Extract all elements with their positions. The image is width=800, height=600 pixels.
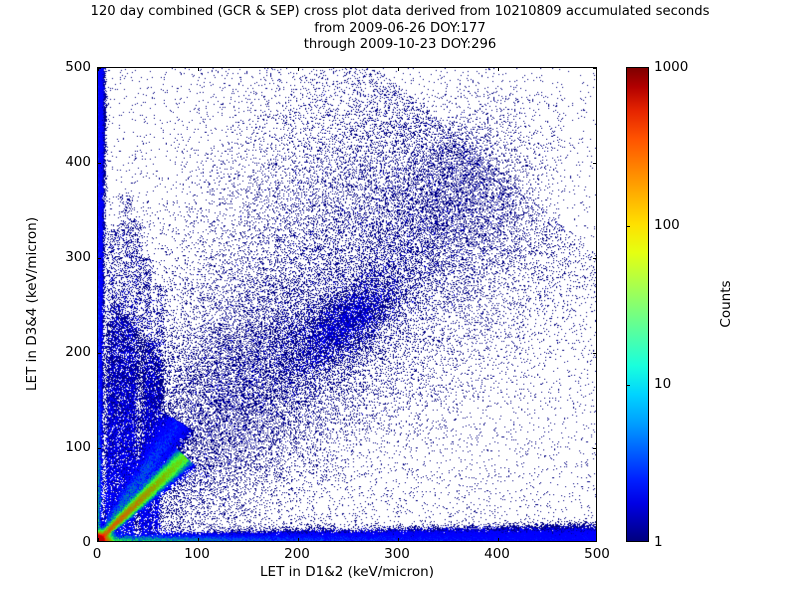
x-tick-400 [498, 538, 499, 542]
x-tick-300 [398, 538, 399, 542]
colorbar-title: Counts [718, 244, 734, 364]
y-tick-400 [593, 163, 597, 164]
colorbar-tick-10 [626, 385, 630, 386]
colorbar-tick-label-1000: 1000 [654, 59, 688, 75]
y-tick-label-200: 200 [65, 344, 91, 360]
y-tick-label-500: 500 [65, 59, 91, 75]
x-tick-200 [298, 67, 299, 71]
title-line-3: through 2009-10-23 DOY:296 [0, 37, 800, 54]
y-tick-100 [97, 448, 101, 449]
y-tick-300 [97, 258, 101, 259]
x-tick-0 [98, 538, 99, 542]
y-tick-label-300: 300 [65, 249, 91, 265]
y-tick-labels: 0100200300400500 [0, 0, 91, 600]
x-tick-300 [398, 67, 399, 71]
x-tick-200 [298, 538, 299, 542]
figure-canvas: 120 day combined (GCR & SEP) cross plot … [0, 0, 800, 600]
y-axis-label: LET in D3&4 (keV/micron) [24, 209, 40, 399]
x-tick-label-0: 0 [93, 546, 102, 562]
x-tick-100 [198, 538, 199, 542]
colorbar-tick-label-100: 100 [654, 217, 680, 233]
x-axis-label: LET in D1&2 (keV/micron) [97, 564, 597, 580]
y-tick-500 [593, 68, 597, 69]
x-tick-label-100: 100 [184, 546, 210, 562]
colorbar-tick-label-10: 10 [654, 376, 671, 392]
y-tick-200 [593, 353, 597, 354]
colorbar-tick-100 [626, 226, 630, 227]
title-line-1: 120 day combined (GCR & SEP) cross plot … [0, 4, 800, 21]
y-tick-500 [97, 68, 101, 69]
x-tick-label-200: 200 [284, 546, 310, 562]
x-tick-400 [498, 67, 499, 71]
y-tick-300 [593, 258, 597, 259]
colorbar [626, 67, 649, 542]
colorbar-tick-label-1: 1 [654, 534, 663, 550]
title-line-2: from 2009-06-26 DOY:177 [0, 21, 800, 38]
y-tick-100 [593, 448, 597, 449]
y-tick-200 [97, 353, 101, 354]
chart-title: 120 day combined (GCR & SEP) cross plot … [0, 4, 800, 54]
x-tick-label-300: 300 [384, 546, 410, 562]
y-tick-label-400: 400 [65, 154, 91, 170]
x-tick-label-500: 500 [584, 546, 610, 562]
x-tick-100 [198, 67, 199, 71]
y-tick-label-0: 0 [82, 534, 91, 550]
y-tick-400 [97, 163, 101, 164]
y-tick-label-100: 100 [65, 439, 91, 455]
plot-axes [97, 67, 597, 542]
scatter-heatmap-canvas [98, 68, 596, 541]
x-tick-label-400: 400 [484, 546, 510, 562]
